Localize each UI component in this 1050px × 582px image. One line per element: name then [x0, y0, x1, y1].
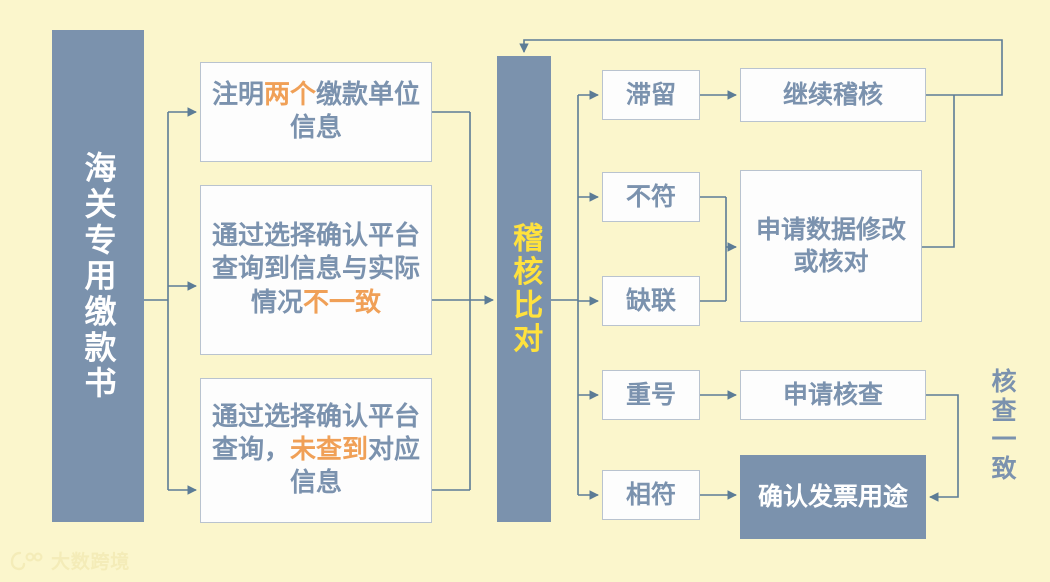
brand-logo-icon — [10, 551, 44, 571]
action-box-continue-audit: 继续稽核 — [740, 68, 926, 122]
result-box-detained: 滞留 — [602, 70, 700, 120]
wire-requestfix-feedback-to-loop — [922, 95, 954, 247]
result-label-detained: 滞留 — [626, 79, 676, 111]
condition-box-not-found: 通过选择确认平台查询，未查到对应信息 — [200, 378, 432, 523]
source-document-bar: 海关专用缴款书 — [52, 30, 144, 522]
watermark: 大数跨境 — [10, 547, 130, 574]
condition-text-emphasis: 两个 — [264, 80, 316, 110]
flowchart-canvas: 海关专用缴款书 注明两个缴款单位信息 通过选择确认平台查询到信息与实际情况不一致… — [0, 0, 1050, 582]
condition-text-not-found: 通过选择确认平台查询，未查到对应信息 — [209, 401, 423, 501]
audit-comparison-bar: 稽核比对 — [497, 56, 551, 522]
source-document-label: 海关专用缴款书 — [78, 151, 119, 402]
condition-text-emphasis: 不一致 — [303, 288, 381, 318]
result-box-duplicate-number: 重号 — [602, 370, 700, 420]
condition-box-note-two: 注明两个缴款单位信息 — [200, 62, 432, 162]
action-label-request-data-fix: 申请数据修改或核对 — [749, 214, 913, 278]
wire-verify-to-confirmuse — [926, 395, 958, 497]
audit-comparison-label: 稽核比对 — [505, 222, 543, 356]
condition-text-emphasis: 未查到 — [290, 435, 368, 465]
result-label-conform: 相符 — [626, 479, 676, 511]
action-label-confirm-invoice-use: 确认发票用途 — [758, 481, 908, 513]
result-label-missing-copy: 缺联 — [626, 285, 676, 317]
action-label-continue-audit: 继续稽核 — [783, 79, 883, 111]
result-box-conform: 相符 — [602, 470, 700, 520]
result-label-duplicate-number: 重号 — [626, 379, 676, 411]
condition-box-mismatch: 通过选择确认平台查询到信息与实际情况不一致 — [200, 185, 432, 355]
condition-text-mismatch: 通过选择确认平台查询到信息与实际情况不一致 — [209, 220, 423, 320]
result-box-missing-copy: 缺联 — [602, 276, 700, 326]
condition-text-segment: 注明 — [212, 80, 264, 110]
condition-text-note-two: 注明两个缴款单位信息 — [209, 79, 423, 146]
action-box-request-data-fix: 申请数据修改或核对 — [740, 170, 922, 322]
action-box-request-verification: 申请核查 — [740, 370, 926, 420]
action-label-request-verification: 申请核查 — [783, 379, 883, 411]
action-box-confirm-invoice-use: 确认发票用途 — [740, 455, 926, 539]
watermark-text: 大数跨境 — [51, 547, 130, 574]
result-box-nonconform: 不符 — [602, 172, 700, 222]
result-label-nonconform: 不符 — [626, 181, 676, 213]
annotation-verification-consistent: 核查一致 — [984, 368, 1020, 484]
annotation-text: 核查一致 — [988, 368, 1017, 484]
